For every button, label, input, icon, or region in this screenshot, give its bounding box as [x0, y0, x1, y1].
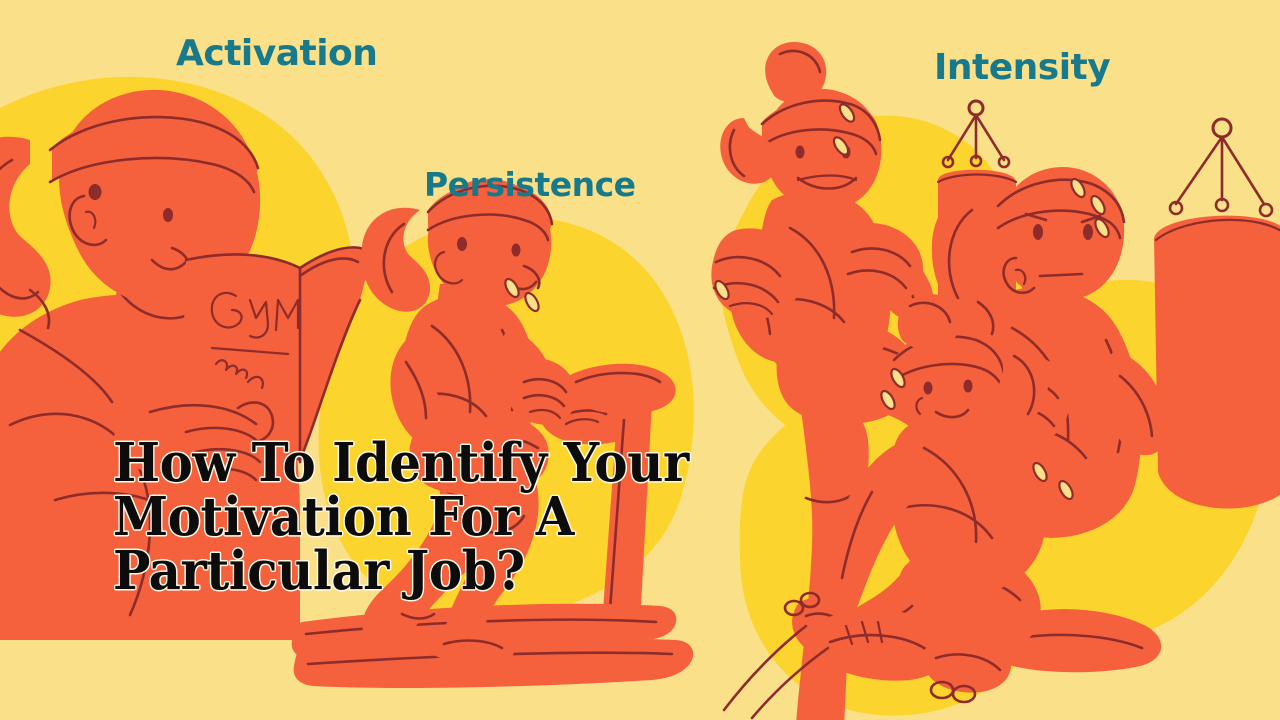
headline-line-3: Particular Job?: [113, 544, 733, 598]
page-title: How To Identify Your Motivation For A Pa…: [113, 436, 733, 598]
label-intensity: Intensity: [934, 50, 1110, 86]
label-activation: Activation: [176, 36, 377, 72]
headline-line-1: How To Identify Your: [113, 436, 733, 490]
headline-line-2: Motivation For A: [113, 490, 733, 544]
label-persistence: Persistence: [424, 168, 636, 201]
fitness-illustration: .co{fill:#F4613C;} .ln{fill:none;stroke:…: [0, 0, 1280, 720]
poster-canvas: .co{fill:#F4613C;} .ln{fill:none;stroke:…: [0, 0, 1280, 720]
